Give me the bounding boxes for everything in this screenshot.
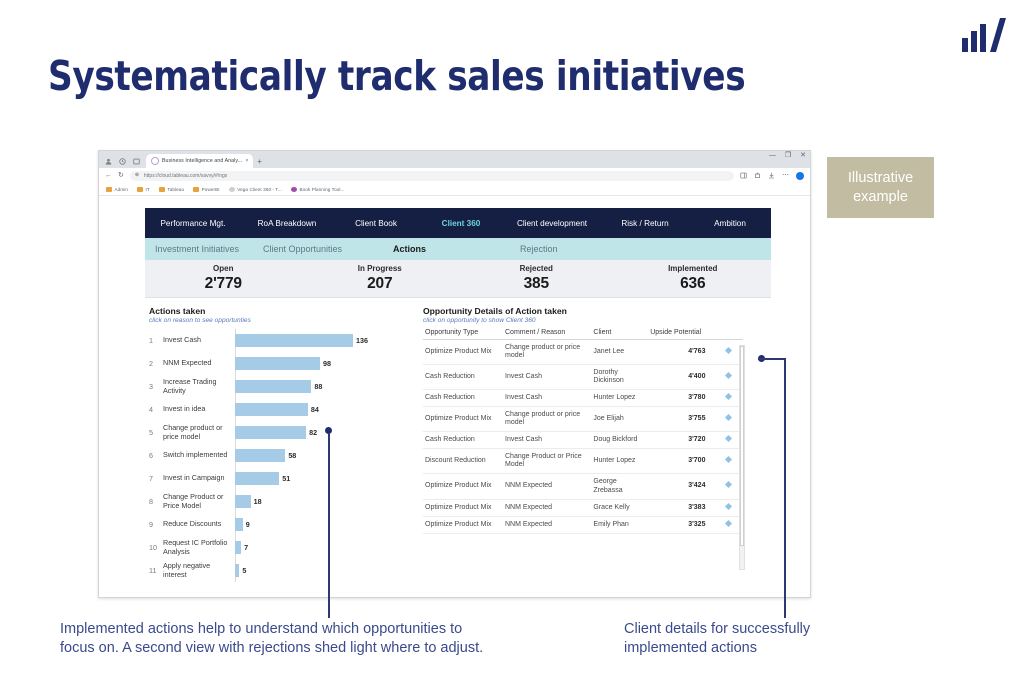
bookmark-item[interactable]: PowerBI (193, 187, 220, 192)
history-icon[interactable] (119, 158, 126, 165)
diamond-icon (725, 414, 732, 421)
kpi-rejected: Rejected 385 (458, 264, 615, 293)
bar-label[interactable]: Switch implemented (163, 451, 235, 459)
kpi-label: In Progress (302, 264, 459, 274)
bar-chart-row[interactable]: 7Invest in Campaign51 (149, 467, 411, 490)
bar-value: 136 (356, 336, 368, 345)
bar-fill[interactable] (235, 541, 241, 554)
bar-track: 5 (235, 564, 411, 577)
bar-track: 7 (235, 541, 411, 554)
bar-rank: 3 (149, 382, 163, 391)
bar-track: 18 (235, 495, 411, 508)
cell-comment-reason: Invest Cash (503, 390, 591, 407)
callout-left-line-1: Implemented actions help to understand w… (60, 620, 580, 639)
col-upside-potential[interactable]: Upside Potential (648, 329, 713, 340)
bar-value: 9 (246, 520, 250, 529)
address-value: https://cloud.tableau.com/savvy/#/ngs (144, 173, 227, 179)
cell-client: Janet Lee (591, 340, 648, 365)
cell-client: Grace Kelly (591, 499, 648, 516)
bar-chart-row[interactable]: 10Request IC Portfolio Analysis7 (149, 536, 411, 559)
cell-upside-potential: 3'383 (648, 499, 713, 516)
illustrative-example-badge: Illustrative example (827, 157, 934, 218)
opportunity-details-title: Opportunity Details of Action taken (423, 306, 771, 316)
diamond-icon (725, 435, 732, 442)
bar-track: 98 (235, 357, 411, 370)
close-window-icon[interactable]: ✕ (800, 152, 806, 159)
bar-label[interactable]: Increase Trading Activity (163, 378, 235, 395)
cell-opportunity-type: Cash Reduction (423, 365, 503, 390)
kpi-open: Open 2'779 (145, 264, 302, 293)
diamond-icon (725, 456, 732, 463)
cell-client: Hunter Lopez (591, 449, 648, 474)
bar-label[interactable]: Change Product or Price Model (163, 493, 235, 510)
close-icon[interactable]: × (245, 158, 248, 164)
col-comment-reason[interactable]: Comment / Reason (503, 329, 591, 340)
tab-favicon (151, 157, 159, 165)
cell-comment-reason: Invest Cash (503, 365, 591, 390)
browser-window: Business Intelligence and Analy... × + —… (98, 150, 811, 598)
callout-line-right-horizontal (758, 358, 786, 360)
dashboard-sub-nav: Investment Initiatives Client Opportunit… (145, 238, 771, 260)
bookmark-item[interactable]: Book Planning Tool... (291, 187, 345, 192)
opportunity-table-wrap: Opportunity Type Comment / Reason Client… (423, 329, 743, 534)
cell-opportunity-type: Discount Reduction (423, 449, 503, 474)
browser-tab[interactable]: Business Intelligence and Analy... × (146, 154, 253, 168)
bar-label[interactable]: Invest Cash (163, 336, 235, 344)
browser-url-bar: ← ↻ ⊕ https://cloud.tableau.com/savvy/#/… (99, 168, 810, 183)
cell-opportunity-type: Optimize Product Mix (423, 407, 503, 432)
bar-rank: 10 (149, 543, 163, 552)
bar-track: 9 (235, 518, 411, 531)
cell-opportunity-type: Optimize Product Mix (423, 516, 503, 533)
back-icon[interactable]: ← (105, 172, 112, 179)
kpi-in-progress: In Progress 207 (302, 264, 459, 293)
bar-value: 58 (288, 451, 296, 460)
address-input[interactable]: ⊕ https://cloud.tableau.com/savvy/#/ngs (130, 171, 734, 181)
bar-track: 82 (235, 426, 411, 439)
new-tab-button[interactable]: + (253, 157, 266, 168)
diamond-icon (725, 481, 732, 488)
kpi-value: 2'779 (145, 274, 302, 293)
bar-value: 88 (314, 382, 322, 391)
cell-opportunity-type: Cash Reduction (423, 390, 503, 407)
actions-taken-subtitle: click on reason to see opportunties (149, 317, 411, 324)
cell-client: Dorothy Dickinson (591, 365, 648, 390)
cell-upside-potential: 3'700 (648, 449, 713, 474)
dashboard-panels: Actions taken click on reason to see opp… (145, 298, 771, 582)
bar-chart-row[interactable]: 2NNM Expected98 (149, 352, 411, 375)
table-row[interactable]: Optimize Product MixChange product or pr… (423, 407, 743, 432)
diamond-icon (725, 520, 732, 527)
nav-item-performance-mgt[interactable]: Performance Mgt. (145, 219, 241, 228)
bar-fill[interactable] (235, 357, 320, 370)
bar-track: 84 (235, 403, 411, 416)
bookmark-label: Book Planning Tool... (299, 187, 344, 192)
bar-rank: 5 (149, 428, 163, 437)
cell-opportunity-type: Cash Reduction (423, 432, 503, 449)
table-scroll-thumb[interactable] (740, 346, 744, 546)
cell-client: Joe Elijah (591, 407, 648, 432)
cell-upside-potential: 3'780 (648, 390, 713, 407)
callout-line-right-vertical (784, 358, 786, 618)
cell-comment-reason: Change product or price model (503, 407, 591, 432)
bar-label[interactable]: Reduce Discounts (163, 520, 235, 528)
browser-viewport: Performance Mgt. RoA Breakdown Client Bo… (99, 196, 810, 581)
cell-client: Hunter Lopez (591, 390, 648, 407)
cell-client: Doug Bickford (591, 432, 648, 449)
badge-line-1: Illustrative (848, 169, 913, 187)
bookmark-item[interactable]: IT (137, 187, 150, 192)
callout-text-left: Implemented actions help to understand w… (60, 620, 580, 659)
tab-search-icon[interactable] (133, 158, 140, 165)
nav-item-client-book[interactable]: Client Book (333, 219, 419, 228)
bookmark-label: Vega Client 360 - T... (237, 187, 282, 192)
diamond-icon (725, 372, 732, 379)
bar-value: 7 (244, 543, 248, 552)
bar-label[interactable]: Invest in idea (163, 405, 235, 413)
cell-comment-reason: Change Product or Price Model (503, 449, 591, 474)
bar-value: 84 (311, 405, 319, 414)
kpi-label: Open (145, 264, 302, 274)
bookmark-label: Admin (115, 187, 129, 192)
cell-upside-potential: 4'400 (648, 365, 713, 390)
cell-comment-reason: NNM Expected (503, 474, 591, 499)
table-row[interactable]: Optimize Product MixNNM ExpectedGrace Ke… (423, 499, 743, 516)
tab-rejection[interactable]: Rejection (493, 244, 610, 254)
bookmark-label: IT (146, 187, 150, 192)
cell-upside-potential: 3'325 (648, 516, 713, 533)
col-client[interactable]: Client (591, 329, 648, 340)
kpi-value: 207 (302, 274, 459, 293)
nav-item-client-development[interactable]: Client development (503, 219, 601, 228)
actions-taken-panel: Actions taken click on reason to see opp… (145, 298, 417, 582)
actions-taken-title: Actions taken (149, 306, 411, 316)
extensions-icon[interactable] (754, 172, 761, 179)
dashboard: Performance Mgt. RoA Breakdown Client Bo… (145, 208, 810, 582)
diamond-icon (725, 503, 732, 510)
bar-fill[interactable] (235, 426, 306, 439)
dashboard-primary-nav: Performance Mgt. RoA Breakdown Client Bo… (145, 208, 771, 238)
cell-comment-reason: Invest Cash (503, 432, 591, 449)
kpi-implemented: Implemented 636 (615, 264, 772, 293)
folder-icon (193, 187, 199, 192)
bar-rank: 7 (149, 474, 163, 483)
opportunity-details-subtitle: click on opportunity to show Client 360 (423, 317, 771, 324)
folder-icon (106, 187, 112, 192)
downloads-icon[interactable] (768, 172, 775, 179)
bar-rank: 2 (149, 359, 163, 368)
tab-investment-initiatives[interactable]: Investment Initiatives (145, 244, 263, 254)
badge-line-2: example (853, 188, 908, 206)
nav-item-ambition[interactable]: Ambition (689, 219, 771, 228)
folder-icon (137, 187, 143, 192)
bar-fill[interactable] (235, 403, 308, 416)
bar-rank: 1 (149, 336, 163, 345)
bar-track: 136 (235, 334, 411, 347)
bar-fill[interactable] (235, 495, 251, 508)
bar-chart-row[interactable]: 4Invest in idea84 (149, 398, 411, 421)
actions-taken-bar-chart: 1Invest Cash1362NNM Expected983Increase … (149, 329, 411, 582)
ascending-bars-logo (962, 18, 1006, 52)
bar-track: 51 (235, 472, 411, 485)
bookmarks-bar: Admin IT Tableau PowerBI Vega Client 360… (99, 183, 810, 196)
page-icon (291, 187, 297, 192)
cell-upside-potential: 3'424 (648, 474, 713, 499)
bar-track: 88 (235, 380, 411, 393)
browser-tab-strip: Business Intelligence and Analy... × + —… (99, 151, 810, 168)
bar-chart-row[interactable]: 3Increase Trading Activity88 (149, 375, 411, 398)
bar-value: 82 (309, 428, 317, 437)
maximize-icon[interactable]: ❐ (785, 152, 791, 159)
bar-value: 51 (282, 474, 290, 483)
cell-opportunity-type: Optimize Product Mix (423, 340, 503, 365)
nav-item-risk-return[interactable]: Risk / Return (601, 219, 689, 228)
nav-item-client-360[interactable]: Client 360 (419, 219, 503, 228)
cell-comment-reason: NNM Expected (503, 516, 591, 533)
cell-opportunity-type: Optimize Product Mix (423, 499, 503, 516)
col-opportunity-type[interactable]: Opportunity Type (423, 329, 503, 340)
kpi-value: 385 (458, 274, 615, 293)
bar-chart-row[interactable]: 9Reduce Discounts9 (149, 513, 411, 536)
cell-upside-potential: 4'763 (648, 340, 713, 365)
bar-label[interactable]: Request IC Portfolio Analysis (163, 539, 235, 556)
avatar[interactable] (796, 172, 804, 180)
bar-chart-row[interactable]: 5Change product or price model82 (149, 421, 411, 444)
bookmark-item[interactable]: Admin (106, 187, 128, 192)
bar-rank: 9 (149, 520, 163, 529)
bookmark-item[interactable]: Vega Client 360 - T... (229, 187, 282, 192)
folder-icon (159, 187, 165, 192)
bar-rank: 4 (149, 405, 163, 414)
bar-fill[interactable] (235, 449, 285, 462)
cell-upside-potential: 3'720 (648, 432, 713, 449)
window-controls: — ❐ ✕ (769, 152, 806, 159)
table-row[interactable]: Cash ReductionInvest CashDorothy Dickins… (423, 365, 743, 390)
opportunity-table-body: Optimize Product MixChange product or pr… (423, 340, 743, 534)
cell-client: George Zrebassa (591, 474, 648, 499)
bar-label[interactable]: Apply negative interest (163, 562, 235, 579)
table-row[interactable]: Optimize Product MixNNM ExpectedEmily Ph… (423, 516, 743, 533)
callout-left-line-2: focus on. A second view with rejections … (60, 639, 580, 658)
bookmark-item[interactable]: Tableau (159, 187, 184, 192)
bar-fill[interactable] (235, 380, 311, 393)
opportunity-table: Opportunity Type Comment / Reason Client… (423, 329, 743, 534)
cell-upside-potential: 3'755 (648, 407, 713, 432)
bar-value: 18 (254, 497, 262, 506)
table-row[interactable]: Cash ReductionInvest CashHunter Lopez3'7… (423, 390, 743, 407)
cell-client: Emily Phan (591, 516, 648, 533)
table-row[interactable]: Optimize Product MixNNM ExpectedGeorge Z… (423, 474, 743, 499)
tabstrip-left-icons (99, 158, 146, 168)
kpi-strip: Open 2'779 In Progress 207 Rejected 385 … (145, 260, 771, 298)
more-icon[interactable]: ⋯ (782, 172, 789, 179)
nav-item-roa-breakdown[interactable]: RoA Breakdown (241, 219, 333, 228)
bar-value: 98 (323, 359, 331, 368)
table-row[interactable]: Cash ReductionInvest CashDoug Bickford3'… (423, 432, 743, 449)
tab-actions[interactable]: Actions (368, 244, 493, 254)
bar-chart-row[interactable]: 1Invest Cash136 (149, 329, 411, 352)
bar-fill[interactable] (235, 564, 239, 577)
bar-rank: 6 (149, 451, 163, 460)
bar-rank: 8 (149, 497, 163, 506)
bar-value: 5 (242, 566, 246, 575)
bar-fill[interactable] (235, 334, 353, 347)
callout-line-left (328, 433, 330, 618)
sidepanel-icon[interactable] (740, 172, 747, 179)
bar-fill[interactable] (235, 472, 279, 485)
toolbar-icons: ⋯ (740, 172, 804, 180)
table-scrollbar[interactable] (739, 345, 745, 570)
diamond-icon (725, 347, 732, 354)
cell-comment-reason: NNM Expected (503, 499, 591, 516)
site-info-icon[interactable]: ⊕ (135, 173, 140, 178)
bar-rank: 11 (149, 566, 163, 575)
kpi-label: Implemented (615, 264, 772, 274)
kpi-label: Rejected (458, 264, 615, 274)
bar-chart-row[interactable]: 8Change Product or Price Model18 (149, 490, 411, 513)
bar-label[interactable]: Change product or price model (163, 424, 235, 441)
kpi-value: 636 (615, 274, 772, 293)
table-row[interactable]: Optimize Product MixChange product or pr… (423, 340, 743, 365)
col-indicator (713, 329, 743, 340)
page-icon (229, 187, 235, 192)
bar-fill[interactable] (235, 518, 243, 531)
tab-client-opportunities[interactable]: Client Opportunities (263, 244, 368, 254)
cell-opportunity-type: Optimize Product Mix (423, 474, 503, 499)
profile-icon[interactable] (105, 158, 112, 165)
bar-label[interactable]: NNM Expected (163, 359, 235, 367)
slide-canvas: Systematically track sales initiatives I… (0, 0, 1024, 693)
table-row[interactable]: Discount ReductionChange Product or Pric… (423, 449, 743, 474)
browser-tab-title: Business Intelligence and Analy... (162, 158, 242, 164)
diamond-icon (725, 393, 732, 400)
callout-right-line-1: Client details for successfully (624, 620, 924, 639)
opportunity-details-panel: Opportunity Details of Action taken clic… (417, 298, 771, 582)
bar-track: 58 (235, 449, 411, 462)
bookmark-label: Tableau (167, 187, 184, 192)
reload-icon[interactable]: ↻ (118, 172, 124, 179)
cell-comment-reason: Change product or price model (503, 340, 591, 365)
bar-chart-row[interactable]: 11Apply negative interest5 (149, 559, 411, 582)
bar-label[interactable]: Invest in Campaign (163, 474, 235, 482)
callout-text-right: Client details for successfully implemen… (624, 620, 924, 659)
table-header-row: Opportunity Type Comment / Reason Client… (423, 329, 743, 340)
bookmark-label: PowerBI (202, 187, 220, 192)
bar-chart-row[interactable]: 6Switch implemented58 (149, 444, 411, 467)
minimize-icon[interactable]: — (769, 152, 776, 159)
callout-right-line-2: implemented actions (624, 639, 924, 658)
page-title: Systematically track sales initiatives (48, 52, 745, 100)
